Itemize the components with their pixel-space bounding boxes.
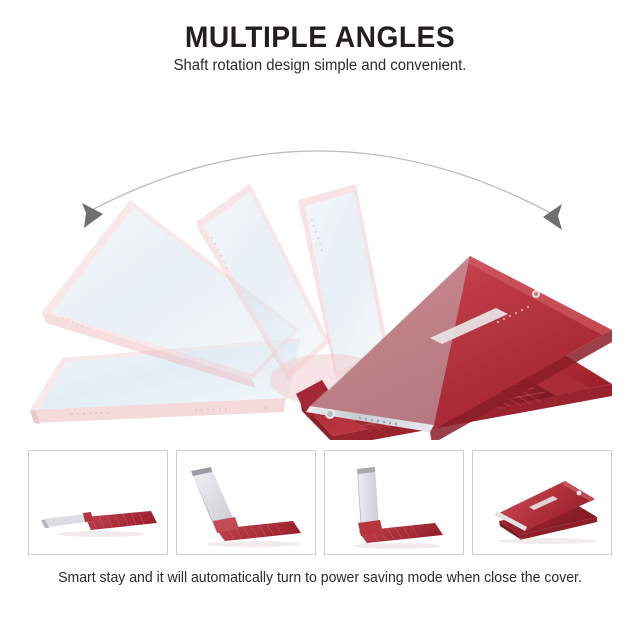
thumb-angle-closed[interactable] — [28, 450, 168, 555]
page-subtitle: Shaft rotation design simple and conveni… — [13, 56, 627, 76]
page-title: MULTIPLE ANGLES — [19, 22, 621, 54]
thumb-angle-open-70[interactable] — [176, 450, 316, 555]
product-marketing-image: MULTIPLE ANGLES Shaft rotation design si… — [0, 0, 640, 617]
thumb-angle-folding[interactable] — [472, 450, 612, 555]
thumb-angle-upright-90[interactable] — [324, 450, 464, 555]
left-arrowhead — [82, 203, 103, 228]
hero-illustration — [0, 80, 640, 440]
right-arrowhead — [543, 204, 562, 230]
angle-thumbnail-strip — [28, 450, 612, 555]
footer-caption: Smart stay and it will automatically tur… — [10, 568, 631, 588]
